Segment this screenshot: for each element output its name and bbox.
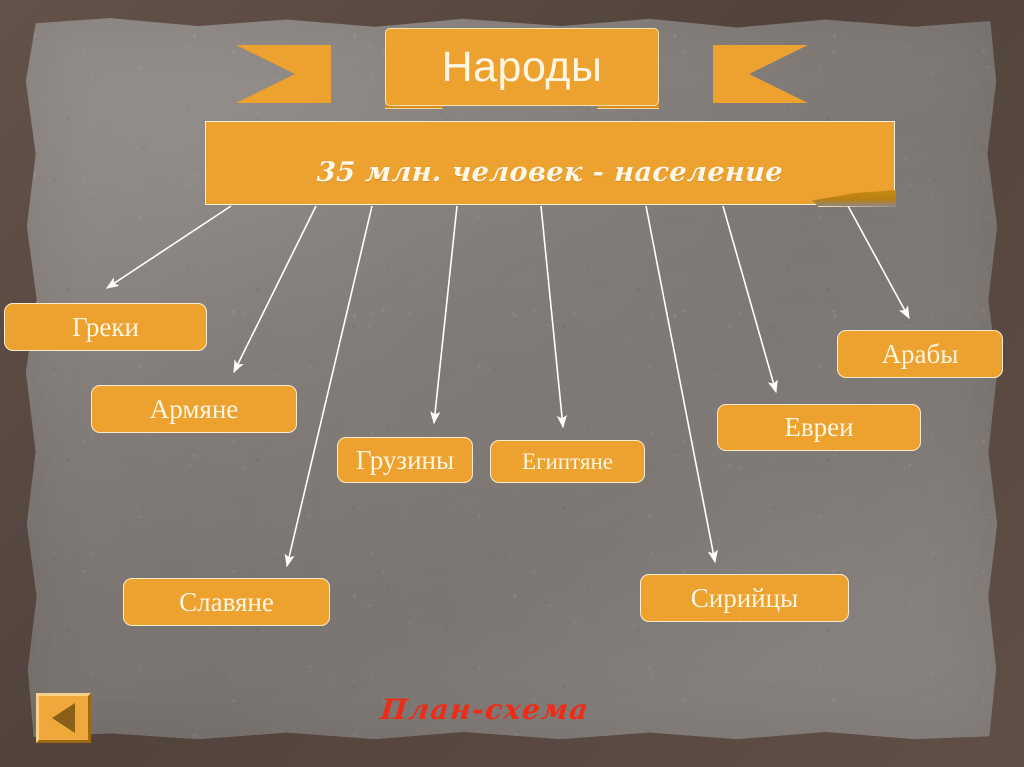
node-label: Грузины	[356, 447, 454, 474]
node-label: Армяне	[150, 396, 239, 423]
node-label: Египтяне	[522, 450, 613, 473]
triangle-left-icon	[52, 703, 75, 733]
node-label: Арабы	[882, 341, 959, 368]
ribbon-left-tail	[236, 45, 331, 103]
node-box[interactable]: Арабы	[837, 330, 1003, 378]
node-box[interactable]: Армяне	[91, 385, 297, 433]
slide-canvas: Народы 35 млн. человек - население Греки…	[0, 0, 1024, 767]
title-ribbon: Народы	[236, 28, 808, 108]
node-label: Греки	[72, 314, 139, 341]
back-button[interactable]	[36, 693, 91, 743]
node-box[interactable]: Грузины	[337, 437, 473, 483]
node-box[interactable]: Египтяне	[490, 440, 645, 483]
node-label: Сирийцы	[691, 585, 798, 612]
node-box[interactable]: Еврeи	[717, 404, 921, 451]
node-label: Еврeи	[784, 414, 853, 441]
subtitle-bar: 35 млн. человек - население	[205, 121, 895, 205]
subtitle-text: 35 млн. человек - население	[316, 157, 784, 188]
node-label: Славяне	[179, 589, 274, 616]
node-box[interactable]: Греки	[4, 303, 207, 351]
ribbon-right-tail	[713, 45, 808, 103]
title-plate: Народы	[385, 28, 659, 106]
page-title: Народы	[442, 46, 603, 89]
slide-caption: План-схема	[348, 693, 621, 726]
node-box[interactable]: Славяне	[123, 578, 330, 626]
node-box[interactable]: Сирийцы	[640, 574, 849, 622]
